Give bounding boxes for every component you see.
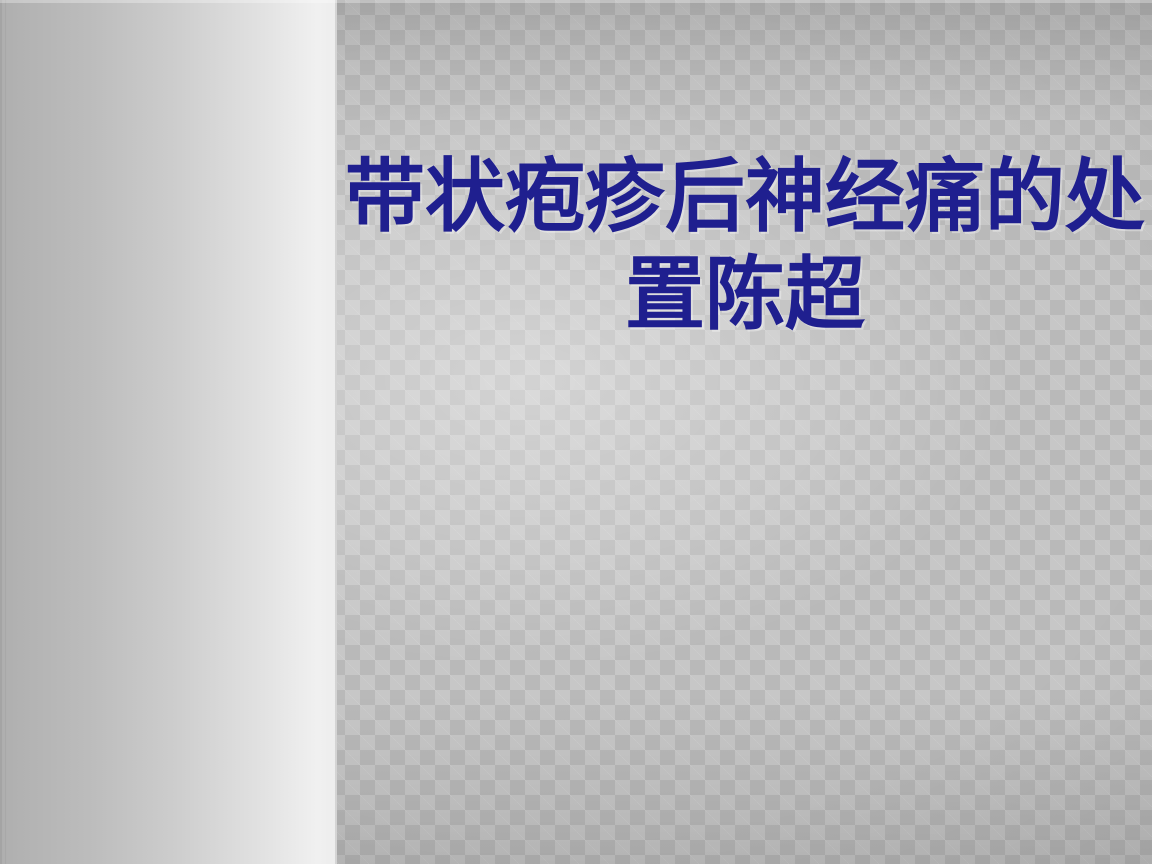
- slide-canvas: 带状疱疹后神经痛的处置陈超: [0, 0, 1152, 864]
- title-placeholder: 带状疱疹后神经痛的处置陈超: [345, 148, 1145, 344]
- left-band-divider: [335, 0, 337, 864]
- top-hairline: [0, 0, 1152, 3]
- left-band-outer-rule: [0, 0, 2, 864]
- slide-title: 带状疱疹后神经痛的处置陈超: [345, 148, 1145, 344]
- left-band-inner-rule: [5, 0, 6, 864]
- left-gradient-band: [0, 0, 337, 864]
